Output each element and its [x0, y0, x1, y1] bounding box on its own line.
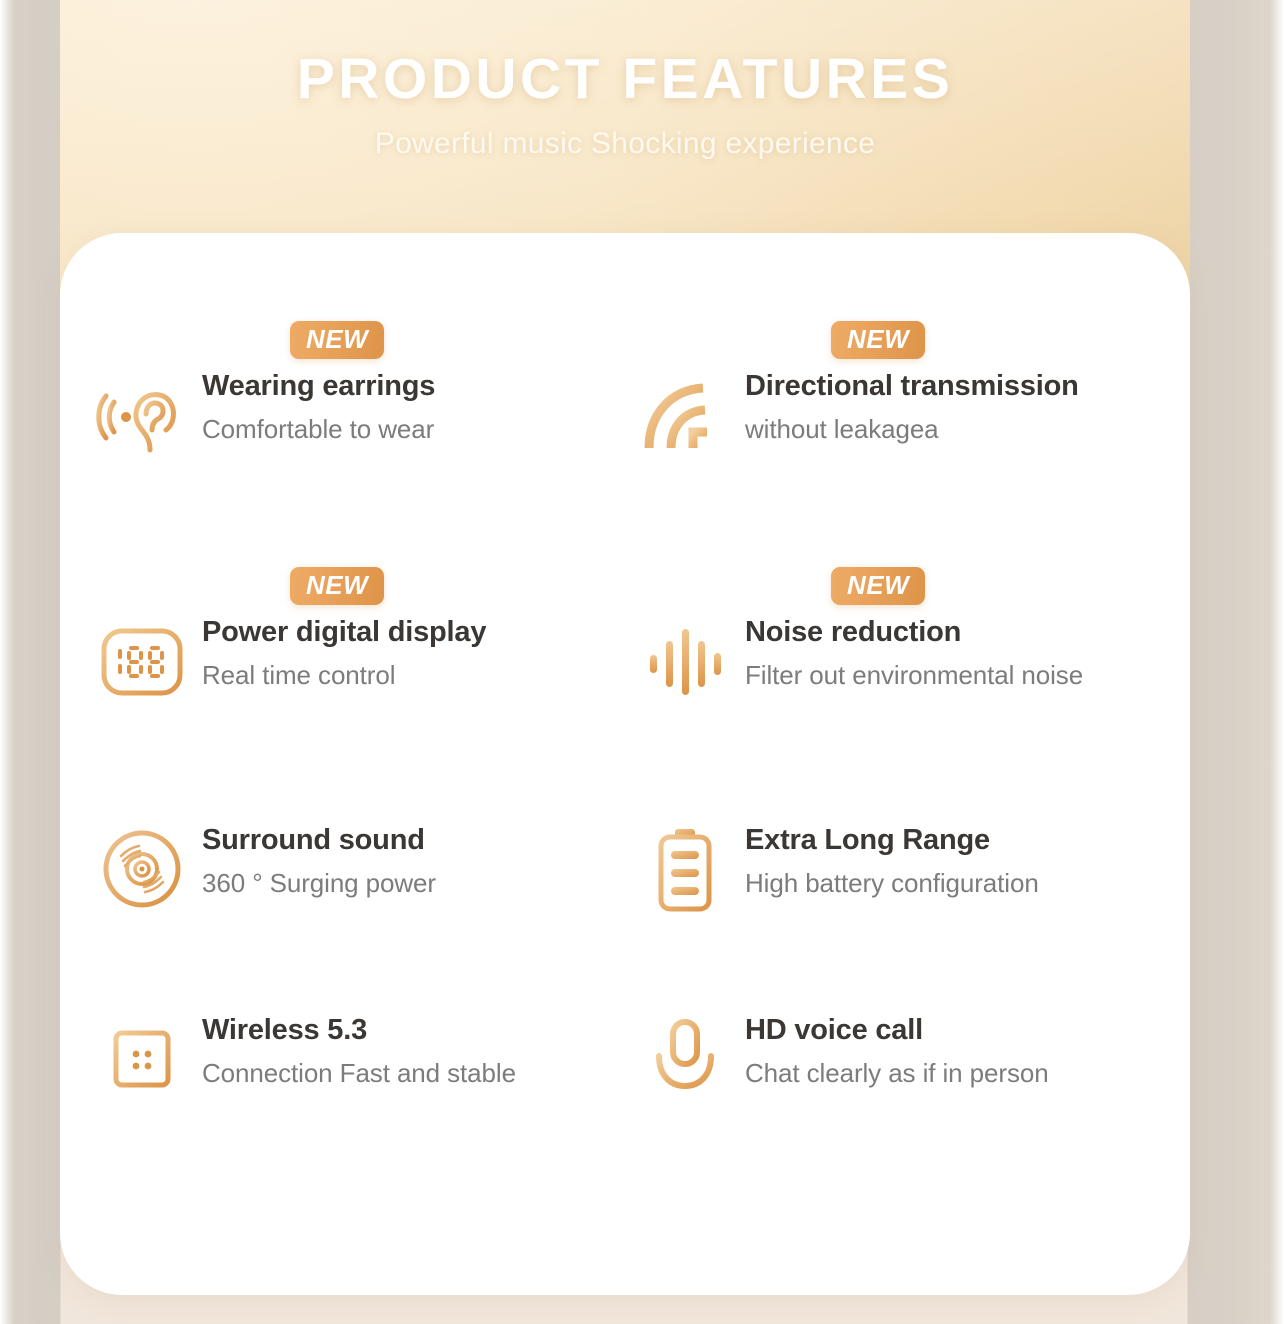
feature-subtitle: Filter out environmental noise [745, 660, 1083, 691]
chip-icon [82, 1011, 202, 1107]
feature-item-noise-reduction[interactable]: NEW [625, 567, 1168, 813]
signal-arcs-icon [625, 367, 745, 463]
new-badge: NEW [290, 321, 384, 359]
feature-title: Surround sound [202, 823, 436, 858]
new-badge-wrap: NEW [831, 321, 925, 359]
feature-item-power-digital-display[interactable]: NEW [82, 567, 625, 813]
feature-title: Noise reduction [745, 615, 1083, 650]
page-header: PRODUCT FEATURES Powerful music Shocking… [60, 0, 1190, 236]
new-badge-wrap: NEW [831, 567, 925, 605]
features-grid: NEW [60, 233, 1190, 1295]
page-subtitle: Powerful music Shocking experience [375, 127, 875, 161]
ear-sound-icon [82, 367, 202, 463]
feature-item-surround-sound[interactable]: Surround sound 360 ° Surging power [82, 813, 625, 1003]
new-badge: NEW [290, 567, 384, 605]
feature-title: Power digital display [202, 615, 486, 650]
waveform-icon [625, 613, 745, 709]
feature-title: Wireless 5.3 [202, 1013, 516, 1048]
microphone-icon [625, 1011, 745, 1107]
feature-item-directional-transmission[interactable]: NEW Directional [625, 321, 1168, 567]
feature-subtitle: Comfortable to wear [202, 414, 435, 445]
feature-subtitle: without leakagea [745, 414, 1079, 445]
feature-subtitle: Real time control [202, 660, 486, 691]
new-badge-wrap: NEW [290, 567, 384, 605]
feature-item-wireless-53[interactable]: Wireless 5.3 Connection Fast and stable [82, 1003, 625, 1233]
features-card: NEW [60, 233, 1190, 1295]
feature-subtitle: Connection Fast and stable [202, 1058, 516, 1089]
feature-subtitle: 360 ° Surging power [202, 868, 436, 899]
digital-display-100-icon [82, 613, 202, 709]
new-badge: NEW [831, 321, 925, 359]
feature-item-wearing-earrings[interactable]: NEW [82, 321, 625, 567]
feature-subtitle: Chat clearly as if in person [745, 1058, 1049, 1089]
battery-icon [625, 821, 745, 917]
feature-title: Extra Long Range [745, 823, 1039, 858]
new-badge-wrap: NEW [290, 321, 384, 359]
new-badge: NEW [831, 567, 925, 605]
page-title: PRODUCT FEATURES [297, 48, 954, 111]
feature-item-extra-long-range[interactable]: Extra Long Range High battery configurat… [625, 813, 1168, 1003]
feature-title: HD voice call [745, 1013, 1049, 1048]
vinyl-disc-icon [82, 821, 202, 917]
feature-title: Directional transmission [745, 369, 1079, 404]
feature-subtitle: High battery configuration [745, 868, 1039, 899]
feature-item-hd-voice-call[interactable]: HD voice call Chat clearly as if in pers… [625, 1003, 1168, 1233]
feature-title: Wearing earrings [202, 369, 435, 404]
